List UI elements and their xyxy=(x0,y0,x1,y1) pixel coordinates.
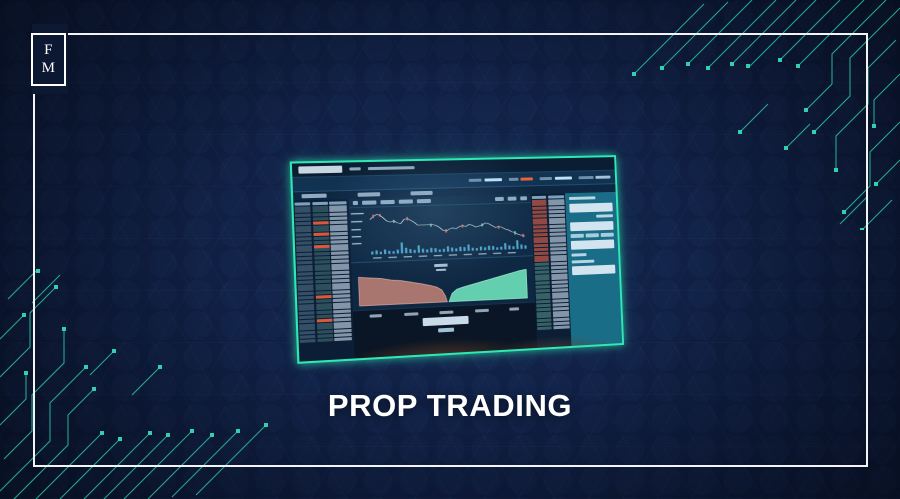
orderbook-row xyxy=(296,237,312,241)
order-entry-sidebar[interactable] xyxy=(565,192,622,346)
orderbook-left[interactable] xyxy=(293,199,354,362)
sidebar-total-field[interactable] xyxy=(571,240,615,250)
orderbook-row xyxy=(296,241,312,245)
orderbook-ask-row xyxy=(534,251,548,255)
ticker-label-1 xyxy=(469,179,482,182)
sidebar-amount-field[interactable] xyxy=(569,202,613,212)
sidebar-info-label-2 xyxy=(572,259,595,263)
orderbook-bid-row xyxy=(535,270,549,274)
orderbook-row xyxy=(550,251,566,255)
chart-column xyxy=(348,194,537,358)
orderbook-row xyxy=(551,269,567,273)
orderbook-row xyxy=(315,279,331,283)
account-label xyxy=(578,176,593,179)
ticker-value-2 xyxy=(520,177,533,181)
column-header xyxy=(312,201,328,205)
panel-tab-trade-history[interactable] xyxy=(440,311,454,315)
orderbook-ask-row xyxy=(533,211,547,214)
ticker-label-2 xyxy=(508,178,518,181)
sidebar-price-field[interactable] xyxy=(570,221,614,231)
depth-ask-area xyxy=(447,269,527,301)
orderbook-bid-row xyxy=(537,307,551,311)
fm-logo-letter-f: F xyxy=(44,43,53,58)
trading-monitor xyxy=(290,155,624,364)
trade-history-panel[interactable] xyxy=(352,302,537,359)
prop-trading-banner: F M xyxy=(0,0,900,499)
nav-item-1[interactable] xyxy=(349,167,360,170)
sidebar-percent-tabs[interactable] xyxy=(571,233,614,238)
orderbook-row xyxy=(335,337,353,341)
orderbook-row xyxy=(295,218,311,222)
ticker-label-3 xyxy=(540,177,553,180)
section-title-center xyxy=(358,193,381,197)
orderbook-row xyxy=(330,220,348,224)
orderbook-ask-row xyxy=(533,233,547,236)
orderbook-row xyxy=(314,260,330,264)
chart-ohlc-high xyxy=(380,200,394,204)
platform-logo-plate xyxy=(298,165,342,174)
ticker-item-3 xyxy=(540,176,572,180)
orderbook-bid-row xyxy=(536,289,550,293)
orderbook-row xyxy=(295,222,311,226)
section-title-right xyxy=(410,191,432,195)
orderbook-row xyxy=(549,214,565,217)
depth-bid-area xyxy=(358,274,447,306)
orderbook-bid-row xyxy=(537,326,551,330)
ticker-value-1 xyxy=(484,178,502,182)
orderbook-row-highlight xyxy=(317,318,333,322)
orderbook-row xyxy=(549,232,565,236)
chart-timeframe-2[interactable] xyxy=(508,197,517,200)
orderbook-row xyxy=(332,259,350,263)
orderbook-row xyxy=(317,338,333,342)
orderbook-row xyxy=(297,261,313,265)
ticker-item-1 xyxy=(469,178,502,182)
orderbook-row xyxy=(552,288,568,292)
column-header xyxy=(295,202,311,206)
orderbook-row xyxy=(333,298,351,302)
orderbook-row xyxy=(332,279,350,283)
sidebar-tab-100[interactable] xyxy=(601,233,614,237)
chart-settings-icon[interactable] xyxy=(520,197,527,200)
chart-tool-icon[interactable] xyxy=(352,201,357,204)
sidebar-panel-title xyxy=(569,196,595,200)
account-value xyxy=(595,175,610,179)
ticker-value-3 xyxy=(554,176,571,180)
panel-submit-button[interactable] xyxy=(438,328,454,333)
fm-logo: F M xyxy=(31,33,66,86)
chart-ohlc-open xyxy=(362,201,376,205)
panel-tab-open-orders[interactable] xyxy=(370,314,382,318)
orderbook-row xyxy=(316,299,332,303)
trading-screen-container xyxy=(297,142,631,362)
depth-chart-svg xyxy=(351,256,536,310)
panel-tab-order-history[interactable] xyxy=(404,312,418,316)
fm-logo-letter-m: M xyxy=(42,61,56,76)
orderbook-row xyxy=(300,339,316,343)
chart-ohlc-low xyxy=(398,200,412,204)
orderbook-row xyxy=(314,240,330,244)
panel-tab-tools[interactable] xyxy=(509,307,519,311)
nav-item-2[interactable] xyxy=(368,166,415,170)
chart-ohlc-close xyxy=(416,199,430,203)
ticker-item-2 xyxy=(508,177,533,181)
page-title: PROP TRADING xyxy=(0,388,900,424)
price-chart-svg xyxy=(348,203,533,262)
orderbook-row xyxy=(553,325,569,329)
orderbook-row-highlight xyxy=(313,221,329,225)
column-header xyxy=(329,201,347,205)
orderbook-row xyxy=(334,317,352,321)
section-title-left xyxy=(301,194,326,198)
panel-search-input[interactable] xyxy=(423,316,469,326)
orderbook-row xyxy=(299,319,315,323)
column-header xyxy=(532,195,546,199)
market-depth-chart[interactable] xyxy=(351,255,536,310)
orderbook-row xyxy=(313,217,329,221)
trading-platform-ui xyxy=(292,157,622,362)
sidebar-tab-50[interactable] xyxy=(586,234,599,238)
column-header xyxy=(548,195,564,199)
sidebar-notes-field[interactable] xyxy=(572,265,616,276)
screen-accent-border xyxy=(290,155,624,364)
orderbook-ask-row xyxy=(533,214,547,217)
sidebar-price-label xyxy=(596,214,613,218)
price-candlestick-chart[interactable] xyxy=(348,203,533,262)
panel-tab-funds[interactable] xyxy=(475,309,489,313)
account-menu[interactable] xyxy=(578,175,610,179)
orderbook-row xyxy=(298,300,314,304)
chart-timeframe-1[interactable] xyxy=(495,197,504,200)
sidebar-info-label-1 xyxy=(571,253,586,257)
orderbook-row xyxy=(331,240,349,244)
sidebar-tab-25[interactable] xyxy=(571,234,584,238)
platform-body xyxy=(293,192,622,362)
orderbook-row xyxy=(298,280,314,284)
